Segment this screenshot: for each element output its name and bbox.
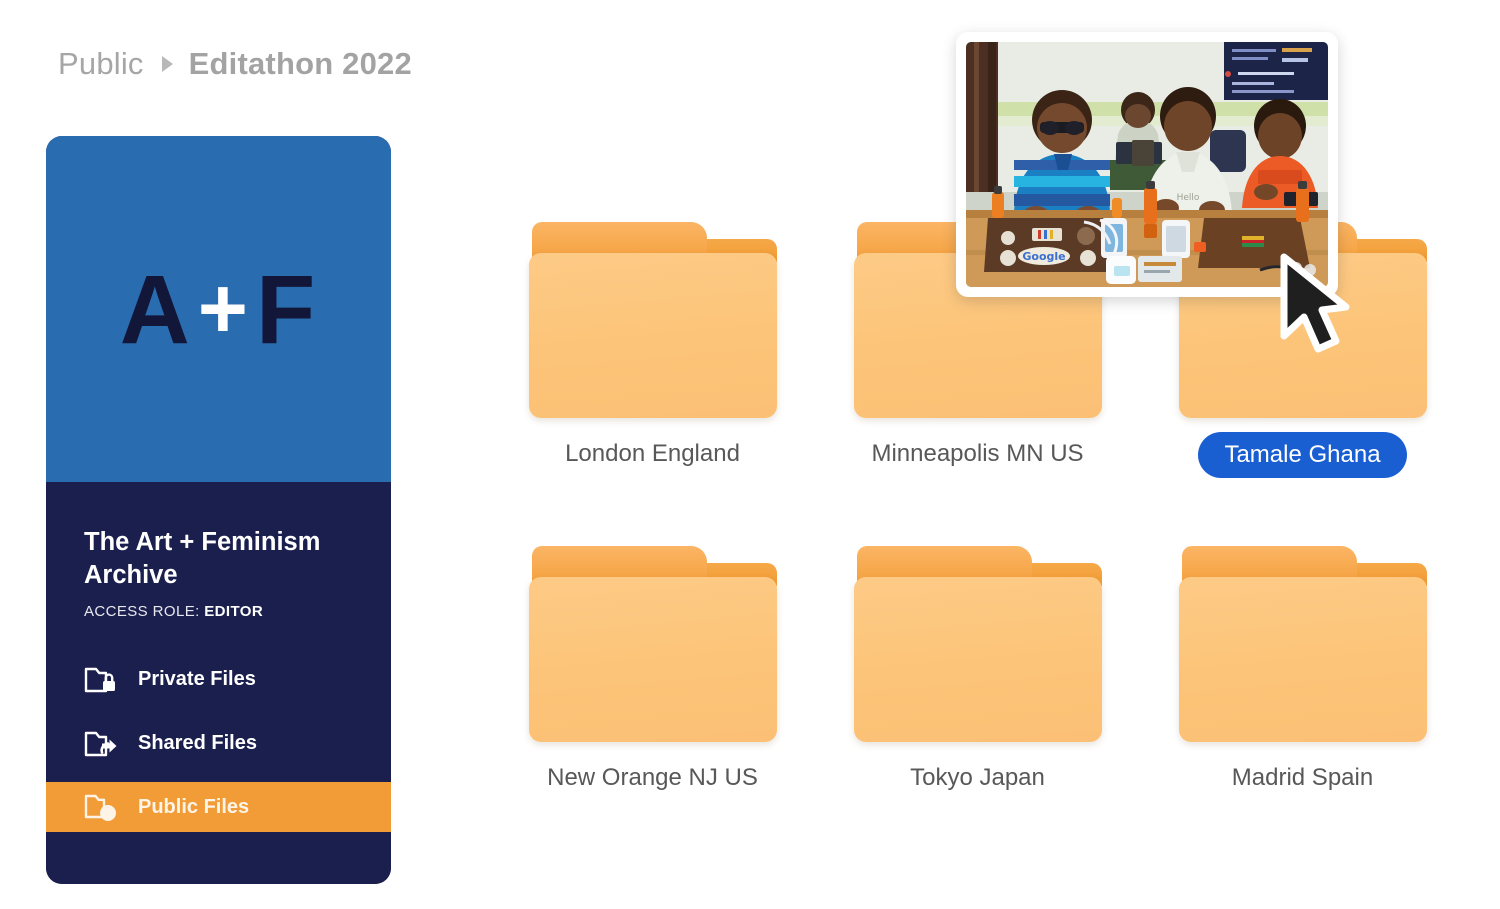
breadcrumb-item-public[interactable]: Public <box>58 46 144 82</box>
folder-body <box>854 577 1102 742</box>
folder-label: Minneapolis MN US <box>871 440 1083 468</box>
access-role-label: ACCESS ROLE: <box>84 603 200 620</box>
sidebar-item-shared-files[interactable]: Shared Files <box>46 718 391 768</box>
folder-grid-row: New Orange NJ US Tokyo Japan Madrid Spai… <box>490 546 1465 792</box>
folder-item-madrid-spain[interactable]: Madrid Spain <box>1140 546 1465 792</box>
logo-letter-f: F <box>256 261 317 358</box>
folder-icon[interactable] <box>1179 546 1427 742</box>
grid-row-spacer <box>490 478 1465 546</box>
editathon-photo: Hello Google <box>966 42 1328 287</box>
svg-text:Hello: Hello <box>1177 193 1200 203</box>
folder-body <box>1179 577 1427 742</box>
logo-letter-a: A <box>120 261 192 358</box>
sidebar-nav: Private Files Shared Files <box>46 654 391 832</box>
logo-plus-icon: + <box>198 266 250 352</box>
folder-icon[interactable] <box>529 546 777 742</box>
sidebar-body: The Art + Feminism Archive ACCESS ROLE: … <box>46 482 391 884</box>
logo-text: A + F <box>120 261 318 358</box>
art-feminism-logo[interactable]: A + F <box>46 136 391 482</box>
sidebar-item-label: Shared Files <box>138 732 257 755</box>
svg-text:Google: Google <box>1022 250 1065 263</box>
sidebar-item-label: Public Files <box>138 796 249 819</box>
folder-share-arrow-icon <box>84 728 118 758</box>
folder-label: Tokyo Japan <box>910 764 1045 792</box>
folder-globe-icon <box>84 792 118 822</box>
folder-body <box>529 253 777 418</box>
sidebar: A + F The Art + Feminism Archive ACCESS … <box>46 136 391 884</box>
caret-right-icon <box>162 56 173 72</box>
folder-item-tokyo-japan[interactable]: Tokyo Japan <box>815 546 1140 792</box>
folder-item-london-england[interactable]: London England <box>490 222 815 478</box>
folder-label: Madrid Spain <box>1232 764 1373 792</box>
folder-item-new-orange-nj-us[interactable]: New Orange NJ US <box>490 546 815 792</box>
sidebar-item-label: Private Files <box>138 668 256 691</box>
sidebar-item-public-files[interactable]: Public Files <box>46 782 391 832</box>
folder-label-selected: Tamale Ghana <box>1198 432 1406 478</box>
folder-lock-icon <box>84 664 118 694</box>
folder-hover-photo-preview[interactable]: Hello Google <box>956 32 1338 297</box>
folder-icon[interactable] <box>854 546 1102 742</box>
access-role: ACCESS ROLE: EDITOR <box>84 603 391 620</box>
folder-grid: London England Minneapolis MN US Tamale … <box>490 222 1465 792</box>
preview-photo: Hello Google <box>966 42 1328 287</box>
access-role-value: EDITOR <box>204 603 263 620</box>
sidebar-item-private-files[interactable]: Private Files <box>46 654 391 704</box>
breadcrumb: Public Editathon 2022 <box>58 42 412 86</box>
org-title: The Art + Feminism Archive <box>84 526 354 591</box>
breadcrumb-item-current[interactable]: Editathon 2022 <box>189 46 412 82</box>
folder-label: New Orange NJ US <box>547 764 758 792</box>
folder-body <box>529 577 777 742</box>
folder-label: London England <box>565 440 740 468</box>
folder-icon[interactable] <box>529 222 777 418</box>
